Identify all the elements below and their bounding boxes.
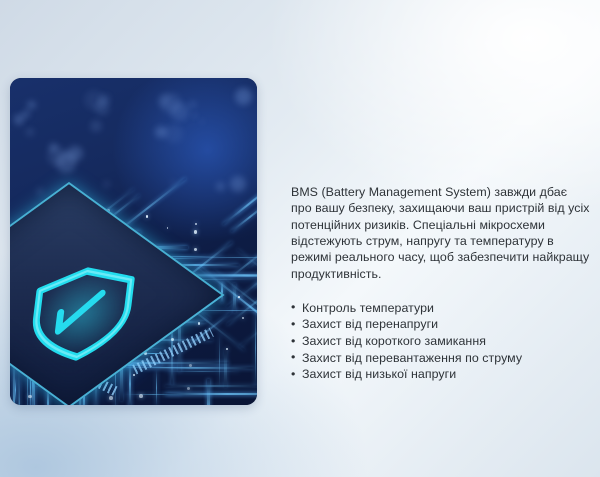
bokeh-light xyxy=(230,176,246,192)
bokeh-light xyxy=(199,119,205,125)
circuit-trace xyxy=(224,350,226,388)
solder-via xyxy=(198,322,200,324)
circuit-trace xyxy=(167,393,257,395)
bokeh-light xyxy=(27,101,35,109)
solder-via xyxy=(242,317,244,319)
solder-via xyxy=(195,223,197,225)
description-paragraph: BMS (Battery Management System) завжди д… xyxy=(291,184,591,282)
bokeh-light xyxy=(189,101,196,108)
slide-root: ВАША БЕЗПЕКА ПІД КОНТРОЛЕМ BMS (Battery … xyxy=(0,0,600,477)
shield-check-icon xyxy=(20,258,143,370)
feature-image-panel xyxy=(10,78,257,405)
bokeh-light xyxy=(216,182,225,191)
bokeh-light xyxy=(26,128,35,137)
solder-via xyxy=(139,394,143,398)
bokeh-light xyxy=(37,188,43,194)
circuit-trace xyxy=(165,385,257,386)
list-item: Захист від перенапруги xyxy=(291,316,591,333)
page-title: ВАША БЕЗПЕКА ПІД КОНТРОЛЕМ xyxy=(291,72,591,164)
circuit-trace xyxy=(139,367,254,368)
list-item: Захист від короткого замикання xyxy=(291,333,591,350)
circuit-trace xyxy=(165,371,239,372)
list-item: Контроль температури xyxy=(291,300,591,317)
headline-line-2: БЕЗПЕКА xyxy=(291,106,591,139)
circuit-trace xyxy=(15,379,16,402)
list-item: Захист від перевантаження по струму xyxy=(291,350,591,367)
circuit-trace xyxy=(207,379,209,405)
bokeh-light xyxy=(164,124,183,143)
bokeh-light xyxy=(160,93,181,114)
headline-line-3: ПІД КОНТРОЛЕМ xyxy=(291,141,591,164)
text-column: ВАША БЕЗПЕКА ПІД КОНТРОЛЕМ BMS (Battery … xyxy=(291,72,591,383)
bokeh-light xyxy=(103,181,110,188)
circuit-trace xyxy=(129,360,131,405)
shield-glow xyxy=(29,265,135,363)
solder-via xyxy=(146,215,148,217)
circuit-trace xyxy=(219,334,220,388)
solder-via xyxy=(109,396,113,400)
solder-via xyxy=(133,374,136,377)
bokeh-light xyxy=(235,88,252,105)
bokeh-light xyxy=(22,110,30,118)
solder-via xyxy=(194,248,197,251)
list-item: Захист від низької напруги xyxy=(291,366,591,383)
bokeh-light xyxy=(192,113,197,118)
solder-via xyxy=(194,230,197,233)
bokeh-light xyxy=(90,120,102,132)
solder-via xyxy=(28,395,31,398)
bokeh-light xyxy=(56,152,76,172)
circuit-trace xyxy=(255,310,256,386)
headline-line-1: ВАША xyxy=(291,72,591,105)
circuit-trace xyxy=(156,370,157,405)
feature-list: Контроль температуриЗахист від перенапру… xyxy=(291,300,591,383)
solder-via xyxy=(167,227,169,229)
solder-via xyxy=(187,387,190,390)
